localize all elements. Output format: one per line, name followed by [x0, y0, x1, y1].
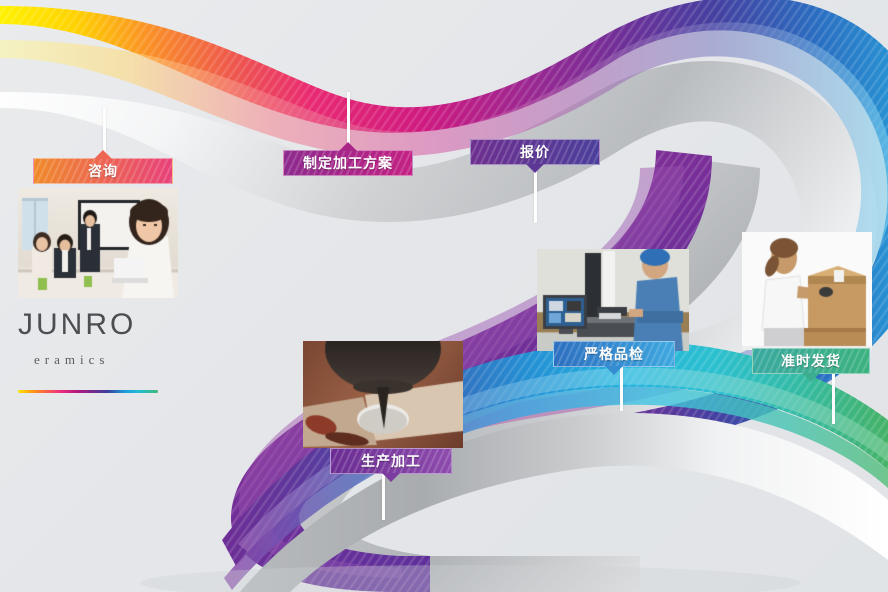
- step-label-plan[interactable]: 制定加工方案: [283, 150, 413, 176]
- label-notch-down: [802, 373, 820, 382]
- shipping-photo: [742, 232, 872, 350]
- label-notch-down: [382, 473, 400, 482]
- machining-photo-canvas: [303, 341, 463, 448]
- meeting-photo-canvas: [18, 188, 178, 298]
- label-notch-down: [526, 164, 544, 173]
- shipping-photo-canvas: [742, 232, 872, 350]
- connector-stem-shipping: [832, 374, 835, 424]
- inspection-photo-canvas: [537, 249, 689, 351]
- connector-stem-quote: [534, 165, 537, 223]
- step-label-quote[interactable]: 报价: [470, 139, 600, 165]
- step-label-inspection[interactable]: 严格品检: [553, 341, 675, 367]
- brand-accent-bar: [18, 390, 158, 393]
- step-label-text: 咨询: [88, 161, 118, 181]
- infographic-canvas: JUNRO eramics 咨询制定加工方案报价生产加工严格品检准时发货: [0, 0, 888, 592]
- label-notch-up: [94, 150, 112, 159]
- label-notch-up: [339, 142, 357, 151]
- step-label-text: 报价: [520, 142, 550, 162]
- label-notch-down: [605, 366, 623, 375]
- step-label-shipping[interactable]: 准时发货: [752, 348, 870, 374]
- inspection-photo: [537, 249, 689, 351]
- brand-name: JUNRO: [18, 310, 158, 340]
- step-label-text: 严格品检: [584, 344, 644, 364]
- step-label-text: 准时发货: [781, 351, 841, 371]
- meeting-photo: [18, 188, 178, 298]
- step-label-production[interactable]: 生产加工: [330, 448, 452, 474]
- step-label-text: 制定加工方案: [303, 153, 393, 173]
- brand-logo: JUNRO eramics: [18, 310, 158, 393]
- brand-tagline: eramics: [34, 352, 158, 368]
- step-label-consult[interactable]: 咨询: [33, 158, 173, 184]
- step-label-text: 生产加工: [361, 451, 421, 471]
- machining-photo: [303, 341, 463, 448]
